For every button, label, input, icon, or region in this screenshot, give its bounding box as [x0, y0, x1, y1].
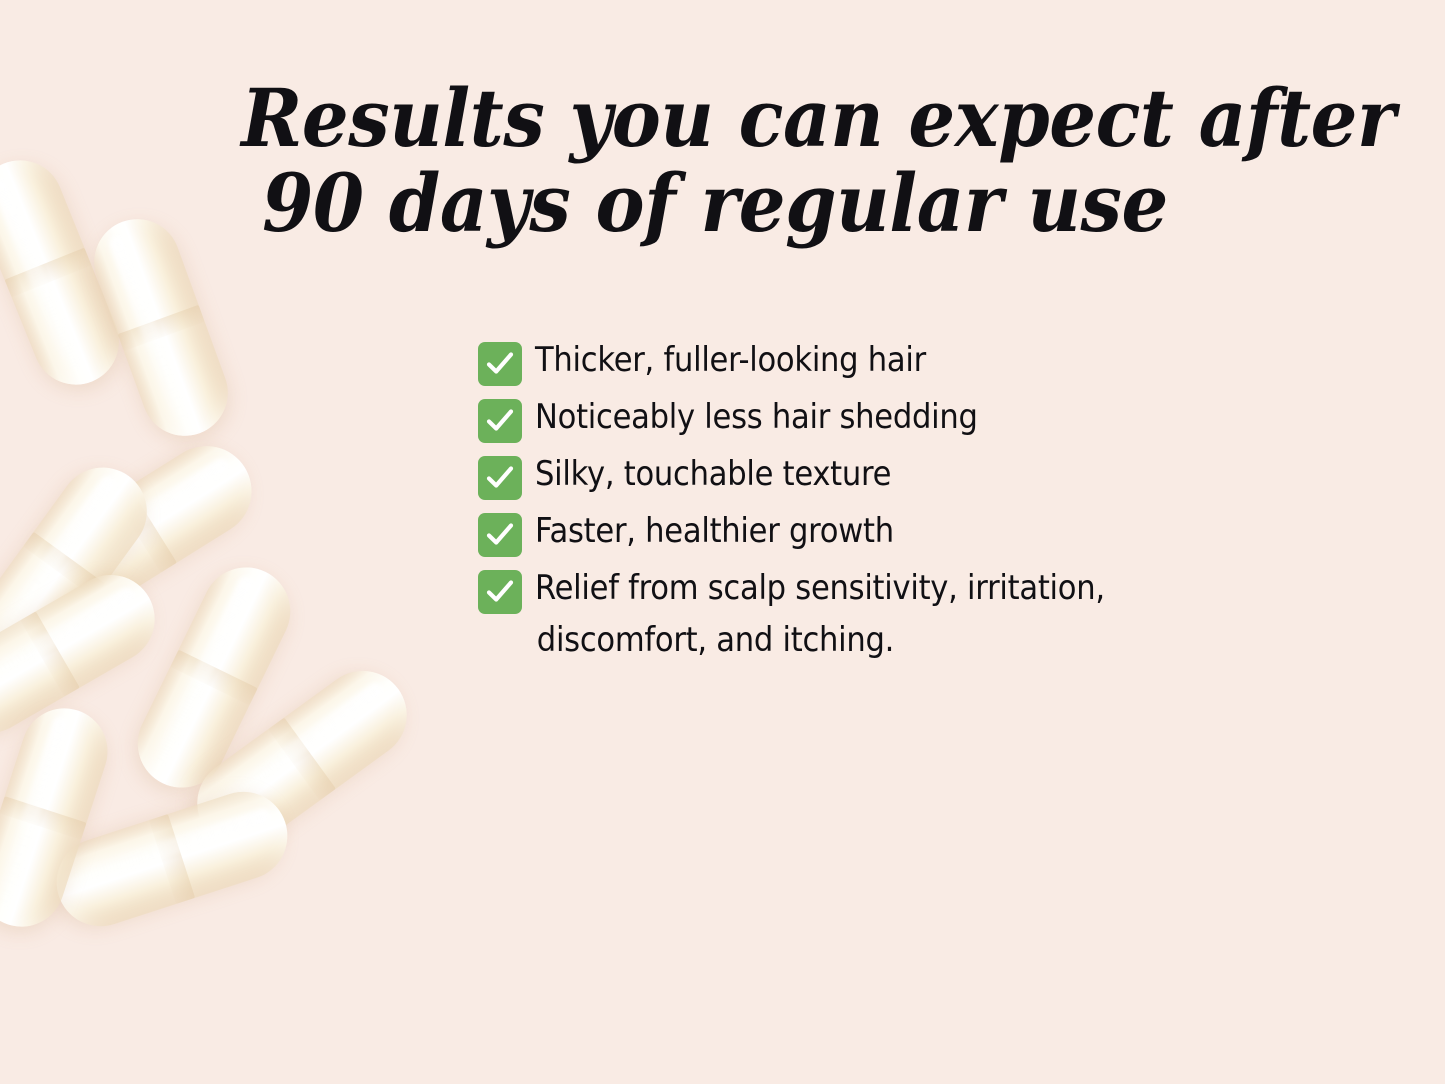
capsule-8 — [45, 780, 299, 937]
headline-line-2: 90 days of regular use — [241, 161, 1189, 246]
benefit-label: Relief from scalp sensitivity, irritatio… — [535, 568, 1231, 661]
benefit-item: Noticeably less hair shedding — [478, 397, 1308, 443]
capsule-6 — [123, 553, 305, 803]
benefit-label-continued: discomfort, and itching. — [537, 620, 1231, 660]
capsule-9 — [0, 697, 119, 938]
green-check-icon — [478, 456, 522, 500]
benefit-item: Thicker, fuller-looking hair — [478, 340, 1308, 386]
benefit-item: Relief from scalp sensitivity, irritatio… — [478, 568, 1308, 661]
benefit-item: Faster, healthier growth — [478, 511, 1308, 557]
capsule-3 — [22, 429, 269, 630]
capsule-1 — [0, 147, 132, 397]
benefit-label: Thicker, fuller-looking hair — [535, 340, 926, 380]
capsule-4 — [0, 450, 164, 680]
capsule-7 — [180, 653, 424, 864]
benefit-label: Faster, healthier growth — [535, 511, 894, 551]
green-check-icon — [478, 342, 522, 386]
capsule-5 — [0, 559, 171, 749]
benefit-label: Silky, touchable texture — [535, 454, 891, 494]
page-title: Results you can expect after 90 days of … — [241, 76, 1189, 246]
benefit-label: Noticeably less hair shedding — [535, 397, 978, 437]
benefit-item: Silky, touchable texture — [478, 454, 1308, 500]
green-check-icon — [478, 513, 522, 557]
green-check-icon — [478, 570, 522, 614]
benefits-list: Thicker, fuller-looking hairNoticeably l… — [478, 340, 1308, 672]
green-check-icon — [478, 399, 522, 443]
headline-line-1: Results you can expect after — [241, 76, 1189, 161]
capsule-2 — [82, 207, 240, 448]
